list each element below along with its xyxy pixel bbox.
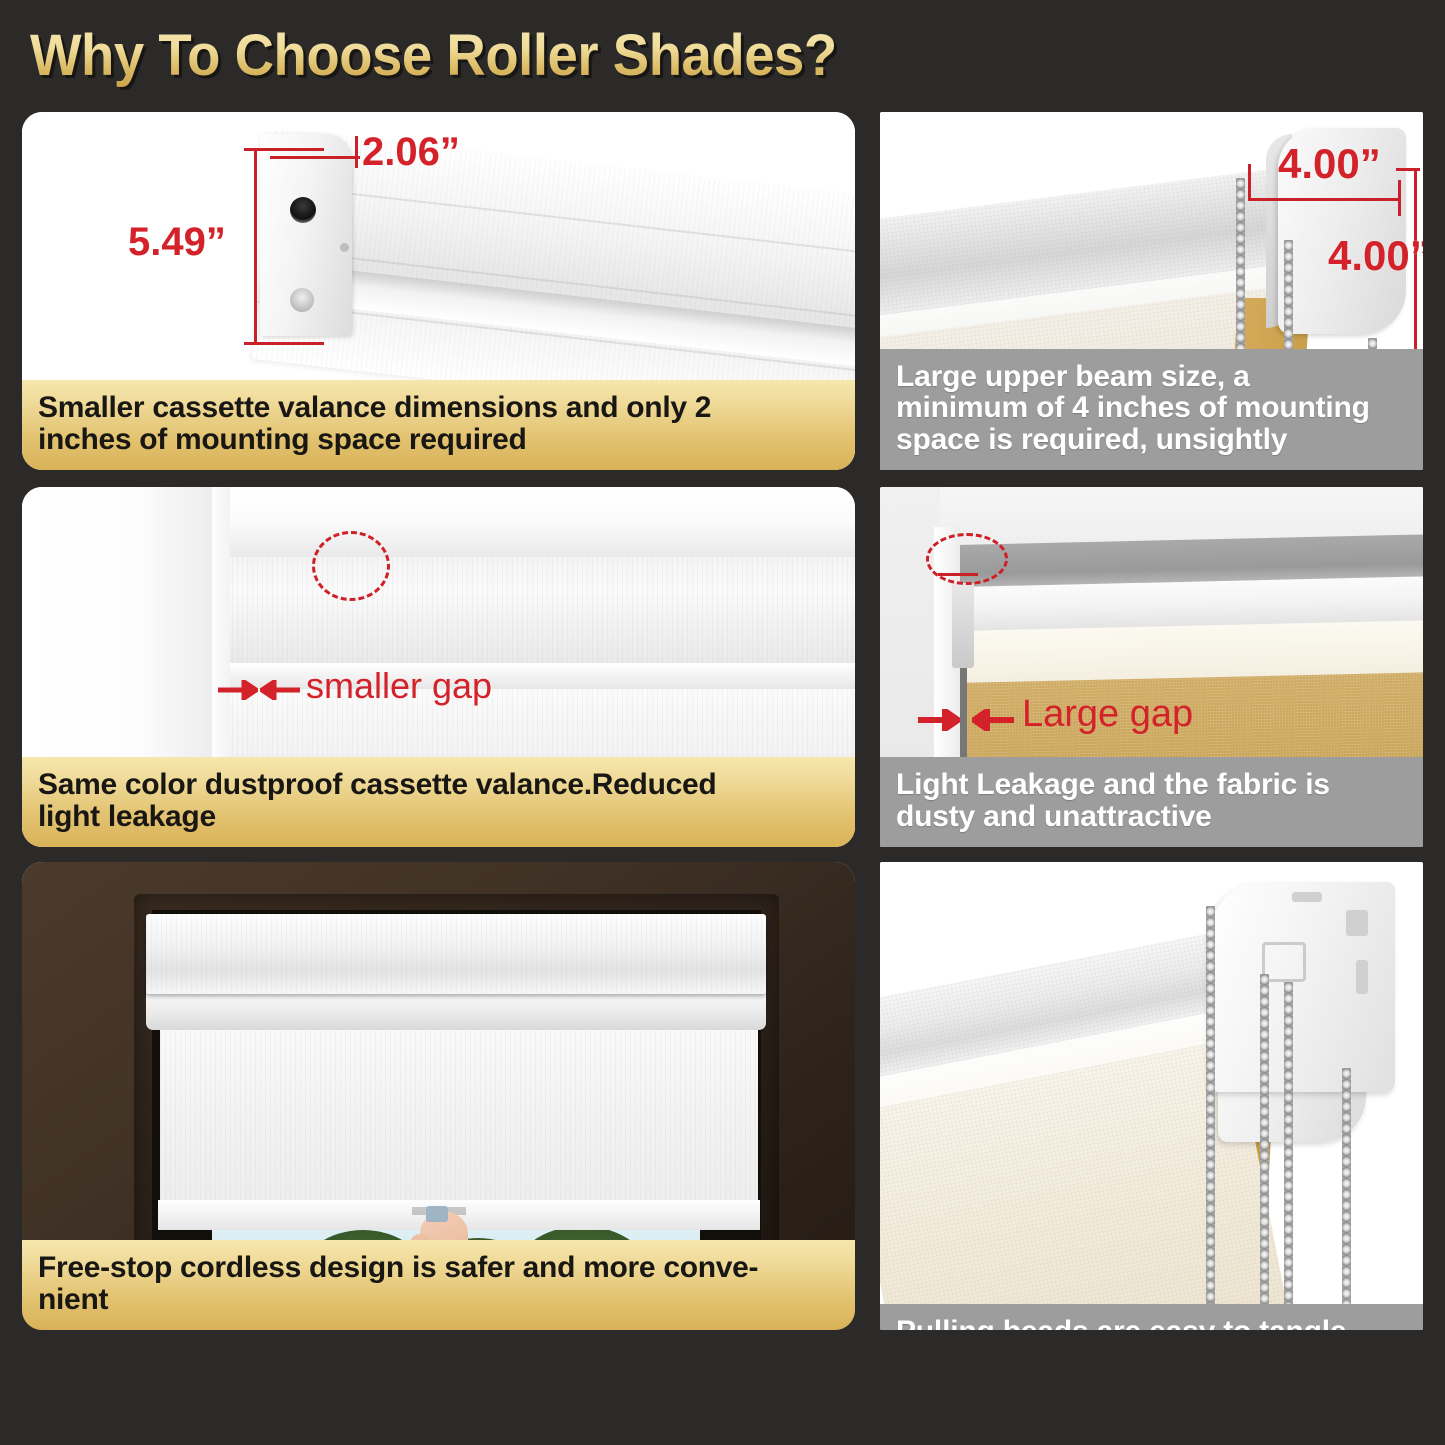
bead-chain-icon	[1342, 1068, 1351, 1310]
infographic-root: Why To Choose Roller Shades? Why To Choo…	[0, 0, 1445, 1445]
highlight-dashed-circle	[926, 533, 1008, 585]
height-dimension-line	[254, 148, 257, 344]
bracket-slot-icon	[290, 197, 316, 223]
caption-line: minimum of 4 inches of mounting	[896, 392, 1407, 424]
panel-cassette-dimensions: 2.06” 5.49” Smaller cassette valance dim…	[22, 112, 855, 470]
panel-smaller-gap: smaller gap Same color dustproof cassett…	[22, 487, 855, 847]
caption-line: Light Leakage and the fabric is	[896, 769, 1407, 801]
cassette-valance	[146, 914, 766, 994]
mount-slot-icon	[1356, 960, 1368, 994]
gap-arrow-right	[972, 709, 1014, 736]
width-dimension-line	[1248, 198, 1400, 201]
bead-chain-icon	[1284, 982, 1293, 1310]
height-dimension-tick-bottom	[244, 342, 324, 345]
panel-1-caption: Smaller cassette valance dimensions and …	[22, 380, 855, 470]
panel-6-caption: Pulling beads are easy to tangle and bre…	[880, 1304, 1423, 1330]
pull-tab	[426, 1206, 448, 1222]
panel-cordless-design: Free-stop cordless design is safer and m…	[22, 862, 855, 1330]
mounting-bracket	[952, 583, 974, 668]
caption-line: space is required, unsightly	[896, 424, 1407, 456]
caption-line: Same color dustproof cassette valance.Re…	[38, 769, 839, 801]
gap-arrow-left	[918, 709, 960, 736]
page-title: Why To Choose Roller Shades?	[30, 22, 837, 89]
panel-4-caption: Light Leakage and the fabric is dusty an…	[880, 757, 1423, 847]
bead-chain-icon	[1206, 906, 1215, 1306]
caption-line: dusty and unattractive	[896, 801, 1407, 833]
gap-label: Large gap	[1022, 693, 1193, 736]
caption-line: Pulling beads are easy to tangle	[896, 1316, 1407, 1330]
caption-line: Large upper beam size, a	[896, 361, 1407, 393]
bead-chain-icon	[1260, 974, 1269, 1310]
height-tick-top	[1396, 168, 1420, 171]
width-tick-right	[1398, 180, 1401, 216]
roller-bracket-upper	[1210, 882, 1395, 1092]
highlight-dashed-circle	[312, 531, 390, 601]
panel-large-beam: 4.00” 4.00” Large upper beam size, a min…	[880, 112, 1423, 470]
caption-line: light leakage	[38, 801, 839, 833]
panel-3-caption: Same color dustproof cassette valance.Re…	[22, 757, 855, 847]
photo-beaded-chain-shade	[880, 862, 1423, 1330]
panel-2-caption: Large upper beam size, a minimum of 4 in…	[880, 349, 1423, 470]
width-tick-left	[1248, 164, 1251, 200]
caption-line: nient	[38, 1284, 839, 1316]
mount-slot-icon	[1292, 892, 1322, 902]
caption-line: inches of mounting space required	[38, 424, 839, 456]
gap-arrow-left	[218, 680, 258, 705]
panel-large-gap: Large gap Light Leakage and the fabric i…	[880, 487, 1423, 847]
panel-pulling-beads: Pulling beads are easy to tangle and bre…	[880, 862, 1423, 1330]
panel-5-caption: Free-stop cordless design is safer and m…	[22, 1240, 855, 1330]
width-dimension-line	[270, 156, 360, 159]
screw-icon	[340, 243, 349, 252]
bracket-pin-icon	[290, 288, 314, 312]
height-dimension-label: 5.49”	[128, 220, 226, 265]
roller-shade-fabric	[160, 1022, 758, 1210]
height-dimension-label: 4.00”	[1328, 232, 1423, 280]
width-dimension-label: 4.00”	[1278, 140, 1381, 188]
width-dimension-tick-right	[355, 136, 358, 168]
caption-line: Free-stop cordless design is safer and m…	[38, 1252, 839, 1284]
gap-label: smaller gap	[306, 665, 492, 707]
caption-line: Smaller cassette valance dimensions and …	[38, 392, 839, 424]
height-dimension-tick-top	[244, 148, 324, 151]
gap-arrow-right	[260, 680, 300, 705]
mount-slot-icon	[1346, 910, 1368, 936]
width-dimension-label: 2.06”	[362, 130, 460, 175]
